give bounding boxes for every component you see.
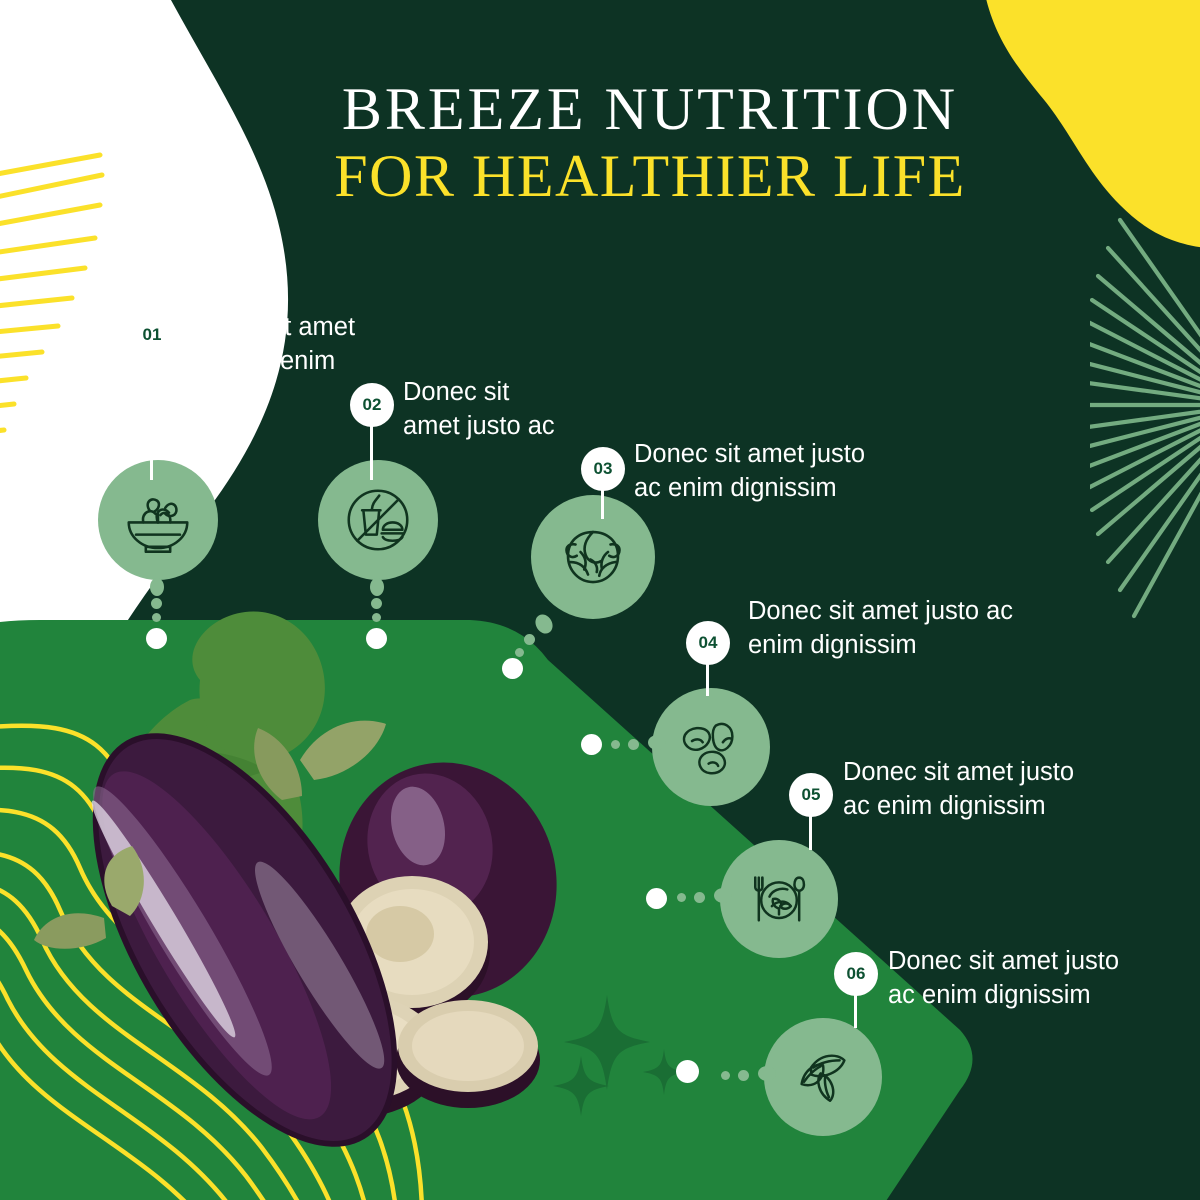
list-item-label: Donec sit amet justo ac enim dignissim xyxy=(634,437,924,505)
connector-stem xyxy=(854,994,857,1028)
list-item-label: Donec sit amet justo ac enim xyxy=(185,310,405,378)
list-item-number-badge: 02 xyxy=(350,383,394,427)
no-junk-food-icon xyxy=(339,481,417,559)
list-item-number-badge: 03 xyxy=(581,447,625,491)
list-item-label: Donec sit amet justo ac xyxy=(403,375,623,443)
list-item-label: Donec sit amet justo ac enim dignissim xyxy=(748,594,1068,662)
connector-stem xyxy=(706,663,709,696)
list-item-icon-circle[interactable] xyxy=(652,688,770,806)
beans-icon xyxy=(673,709,749,785)
plate-cutlery-leaf-icon xyxy=(741,861,817,937)
list-item-number-badge: 05 xyxy=(789,773,833,817)
list-item-icon-circle[interactable] xyxy=(98,460,218,580)
cabbage-icon xyxy=(553,517,633,597)
list-item-label: Donec sit amet justo ac enim dignissim xyxy=(888,944,1188,1012)
list-item-icon-circle[interactable] xyxy=(764,1018,882,1136)
connector-stem xyxy=(370,425,373,480)
list-item-number-badge: 04 xyxy=(686,621,730,665)
list-item-icon-circle[interactable] xyxy=(720,840,838,958)
page-title: BREEZE NUTRITION FOR HEALTHIER LIFE xyxy=(0,78,1200,212)
poster-canvas: BREEZE NUTRITION FOR HEALTHIER LIFE Done… xyxy=(0,0,1200,1200)
connector-stem xyxy=(150,355,153,480)
connector-stem xyxy=(601,489,604,519)
list-item-number-badge: 06 xyxy=(834,952,878,996)
list-item-label: Donec sit amet justo ac enim dignissim xyxy=(843,755,1143,823)
connector-stem xyxy=(809,815,812,850)
list-item-icon-circle[interactable] xyxy=(318,460,438,580)
salad-bowl-icon xyxy=(119,481,197,559)
title-line-secondary: FOR HEALTHIER LIFE xyxy=(100,141,1200,212)
title-line-primary: BREEZE NUTRITION xyxy=(100,78,1200,141)
list-item-number-badge: 01 xyxy=(130,313,174,357)
three-leaves-icon xyxy=(785,1039,861,1115)
list-item-icon-circle[interactable] xyxy=(531,495,655,619)
